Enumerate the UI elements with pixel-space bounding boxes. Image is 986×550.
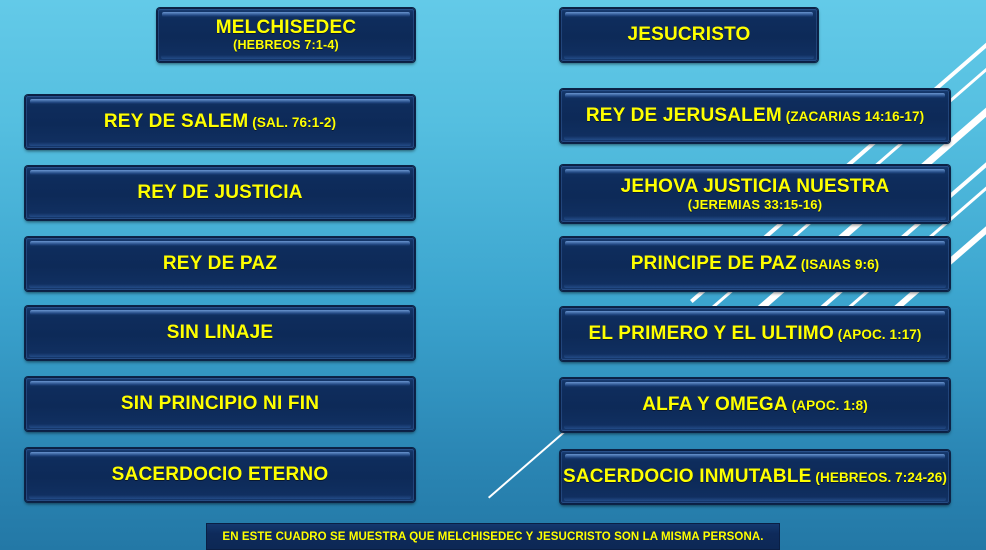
item-reference: (ISAIAS 9:6): [797, 257, 879, 272]
item-text: JEHOVA JUSTICIA NUESTRA: [621, 177, 890, 196]
footer-banner: EN ESTE CUADRO SE MUESTRA QUE MELCHISEDE…: [206, 523, 780, 550]
header-title: JESUCRISTO: [627, 25, 750, 44]
left-item-rey-de-salem[interactable]: REY DE SALEM (SAL. 76:1-2): [25, 95, 415, 149]
left-item-sin-principio-ni-fin[interactable]: SIN PRINCIPIO NI FIN: [25, 377, 415, 431]
item-text: SIN PRINCIPIO NI FIN: [121, 394, 319, 413]
item-text: SACERDOCIO INMUTABLE (HEBREOS. 7:24-26): [563, 467, 947, 486]
header-plaque-melchisedec[interactable]: MELCHISEDEC (HEBREOS 7:1-4): [157, 8, 415, 62]
slide-canvas: MELCHISEDEC (HEBREOS 7:1-4) JESUCRISTO R…: [0, 0, 986, 550]
right-item-sacerdocio-inmutable[interactable]: SACERDOCIO INMUTABLE (HEBREOS. 7:24-26): [560, 450, 950, 504]
item-text: EL PRIMERO Y EL ULTIMO (APOC. 1:17): [588, 324, 921, 343]
left-item-rey-de-justicia[interactable]: REY DE JUSTICIA: [25, 166, 415, 220]
item-reference: (HEBREOS. 7:24-26): [812, 470, 947, 485]
right-item-principe-de-paz[interactable]: PRINCIPE DE PAZ (ISAIAS 9:6): [560, 237, 950, 291]
header-reference: (HEBREOS 7:1-4): [233, 39, 339, 52]
left-item-sacerdocio-eterno[interactable]: SACERDOCIO ETERNO: [25, 448, 415, 502]
right-item-el-primero-y-el-ultimo[interactable]: EL PRIMERO Y EL ULTIMO (APOC. 1:17): [560, 307, 950, 361]
right-item-jehova-justicia-nuestra[interactable]: JEHOVA JUSTICIA NUESTRA (JEREMIAS 33:15-…: [560, 165, 950, 223]
item-reference: (APOC. 1:8): [788, 398, 868, 413]
item-text: REY DE JERUSALEM (ZACARIAS 14:16-17): [586, 106, 924, 125]
item-reference: (JEREMIAS 33:15-16): [688, 198, 823, 211]
item-text: ALFA Y OMEGA (APOC. 1:8): [642, 395, 868, 414]
header-title: MELCHISEDEC: [216, 18, 357, 37]
right-item-alfa-y-omega[interactable]: ALFA Y OMEGA (APOC. 1:8): [560, 378, 950, 432]
header-plaque-jesucristo[interactable]: JESUCRISTO: [560, 8, 818, 62]
left-item-rey-de-paz[interactable]: REY DE PAZ: [25, 237, 415, 291]
left-item-sin-linaje[interactable]: SIN LINAJE: [25, 306, 415, 360]
right-item-rey-de-jerusalem[interactable]: REY DE JERUSALEM (ZACARIAS 14:16-17): [560, 89, 950, 143]
item-text: PRINCIPE DE PAZ (ISAIAS 9:6): [631, 254, 880, 273]
item-text: REY DE SALEM (SAL. 76:1-2): [104, 112, 336, 131]
item-reference: (SAL. 76:1-2): [248, 115, 336, 130]
item-text: SIN LINAJE: [167, 323, 274, 342]
item-reference: (APOC. 1:17): [834, 327, 922, 342]
item-text: REY DE JUSTICIA: [137, 183, 302, 202]
footer-text: EN ESTE CUADRO SE MUESTRA QUE MELCHISEDE…: [222, 531, 763, 543]
item-text: SACERDOCIO ETERNO: [112, 465, 329, 484]
item-text: REY DE PAZ: [163, 254, 277, 273]
item-reference: (ZACARIAS 14:16-17): [782, 109, 924, 124]
